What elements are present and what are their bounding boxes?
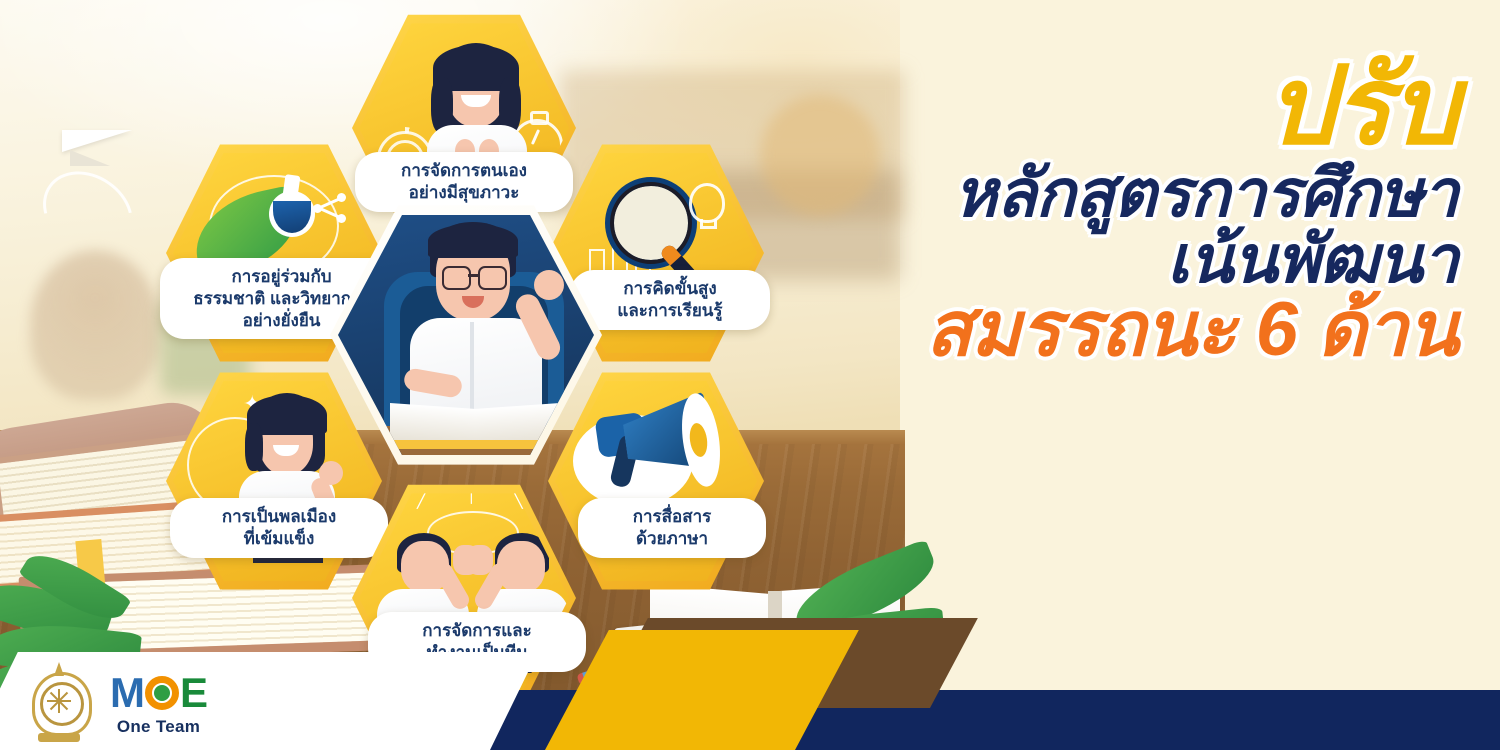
hex-label-active-citizenship: การเป็นพลเมือง ที่เข้มแข็ง <box>170 498 388 558</box>
hex-language-communication[interactable] <box>548 368 764 594</box>
competency-hex-cluster: การจัดการตนเอง อย่างมีสุขภาวะ การอยู่ร่ว… <box>130 0 810 720</box>
footer-logo-group: M E One Team <box>28 666 207 742</box>
infographic-canvas: การจัดการตนเอง อย่างมีสุขภาวะ การอยู่ร่ว… <box>0 0 1500 750</box>
thai-ministry-emblem-icon <box>28 666 90 742</box>
hex-label-self-management: การจัดการตนเอง อย่างมีสุขภาวะ <box>355 152 573 212</box>
hex-label-higher-order-thinking: การคิดขั้นสูง และการเรียนรู้ <box>570 270 770 330</box>
moe-letter-m: M <box>110 672 144 714</box>
headline-line-2: หลักสูตรการศึกษา <box>818 160 1458 226</box>
moe-letter-e: E <box>180 672 207 714</box>
headline-line-1: ปรับ <box>818 52 1458 160</box>
headline-block: ปรับ หลักสูตรการศึกษา เน้นพัฒนา สมรรถนะ … <box>818 52 1458 368</box>
moe-tagline: One Team <box>117 717 200 737</box>
headline-line-3: เน้นพัฒนา <box>818 226 1458 292</box>
hex-label-language-communication: การสื่อสาร ด้วยภาษา <box>578 498 766 558</box>
moe-letter-o-icon <box>145 676 179 710</box>
hex-active-citizenship[interactable]: ✦ <box>166 368 382 594</box>
headline-line-4: สมรรถนะ 6 ด้าน <box>818 292 1458 368</box>
open-book-center <box>390 406 560 448</box>
moe-logo: M E One Team <box>110 672 207 737</box>
paper-plane-icon <box>62 130 136 174</box>
